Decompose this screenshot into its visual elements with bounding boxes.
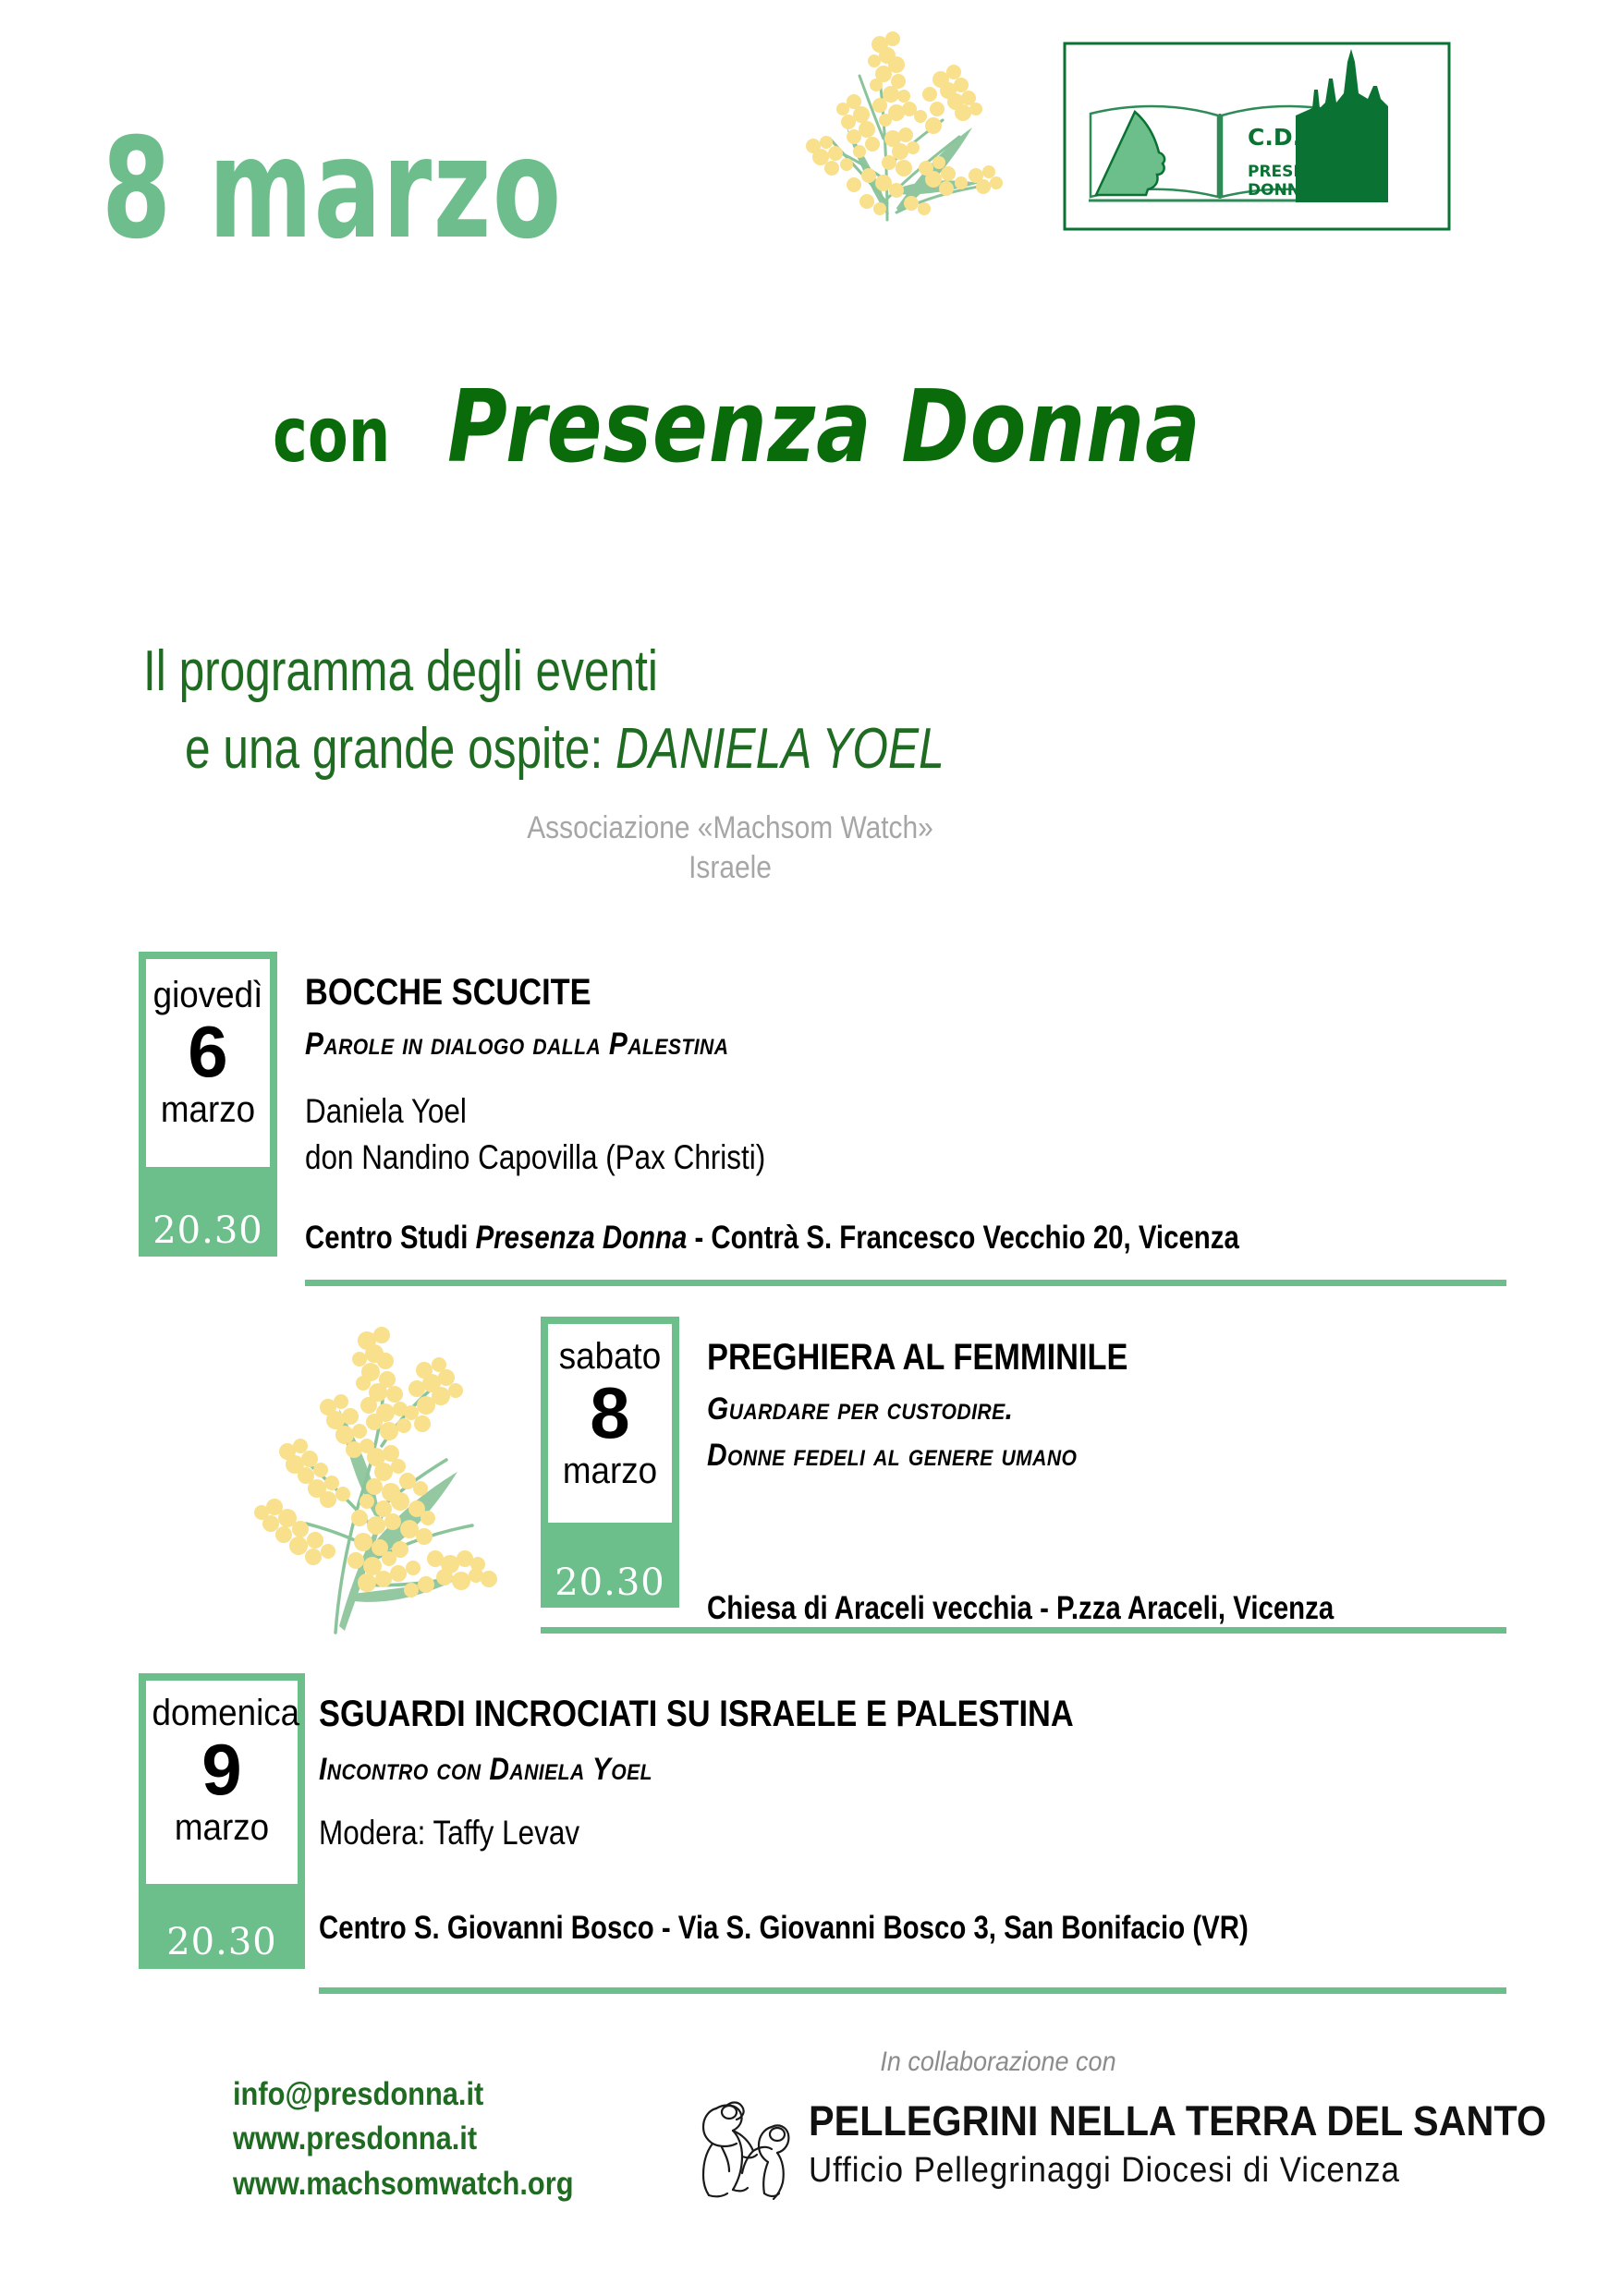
event-venue: Centro S. Giovanni Bosco - Via S. Giovan…: [319, 1910, 1321, 1947]
event-title: PREGHIERA AL FEMMINILE: [707, 1337, 1422, 1378]
event-divider: [305, 1280, 1506, 1286]
cds-presenza-donna-logo: C.D.S. PRESENZA DONNA: [1063, 42, 1451, 231]
partner-subtitle: Ufficio Pellegrinaggi Diocesi di Vicenza: [809, 2153, 1546, 2188]
con-word: con: [273, 392, 390, 480]
presenza-donna-wordmark: Presenza Donna: [447, 370, 1201, 485]
intro-line-1: Il programma degli eventi: [143, 638, 658, 705]
event-subtitle: Incontro con Daniela Yoel: [319, 1751, 1368, 1788]
event-weekday: domenica: [152, 1694, 292, 1732]
venue-pre: Chiesa di Araceli vecchia - P.zza Aracel…: [707, 1590, 1334, 1626]
event-item: giovedì 6 marzo 20.30 BOCCHE SCUCITE Par…: [0, 952, 1621, 1284]
venue-emphasis: Presenza Donna: [476, 1220, 688, 1256]
event-body: SGUARDI INCROCIATI SU ISRAELE E PALESTIN…: [319, 1673, 1511, 1947]
event-month: marzo: [553, 1452, 666, 1490]
guest-country: Israele: [88, 848, 1372, 888]
pilgrims-illustration-icon: [689, 2090, 795, 2201]
event-venue: Centro Studi Presenza Donna - Contrà S. …: [305, 1220, 1314, 1257]
event-month: marzo: [152, 1808, 292, 1847]
partner-logo: PELLEGRINI NELLA TERRA DEL SANTO Ufficio…: [689, 2085, 1474, 2201]
venue-post: - Contrà S. Francesco Vecchio 20, Vicenz…: [687, 1220, 1239, 1256]
venue-pre: Centro S. Giovanni Bosco - Via S. Giovan…: [319, 1910, 1249, 1946]
poster-header: 8 marzo: [0, 0, 1621, 370]
venue-pre: Centro Studi: [305, 1220, 476, 1256]
collaboration-label: In collaborazione con: [880, 2047, 1115, 2078]
event-weekday: sabato: [553, 1337, 666, 1376]
guest-name: DANIELA YOEL: [615, 717, 945, 781]
cds-acronym: C.D.S.: [1248, 124, 1327, 151]
guest-affiliation: Associazione «Machsom Watch» Israele: [88, 808, 1372, 887]
event-date-box: sabato 8 marzo 20.30: [541, 1317, 679, 1608]
event-title: SGUARDI INCROCIATI SU ISRAELE E PALESTIN…: [319, 1694, 1344, 1734]
event-day: 8: [548, 1376, 672, 1452]
event-speaker: Modera: Taffy Levav: [319, 1810, 1333, 1856]
event-day: 9: [146, 1732, 298, 1808]
organisation-title: conPresenza Donna: [273, 370, 1367, 485]
event-speaker: don Nandino Capovilla (Pax Christi): [305, 1135, 1326, 1181]
partner-name: PELLEGRINI NELLA TERRA DEL SANTO: [809, 2100, 1546, 2142]
event-subtitle-2: Donne fedeli al genere umano: [707, 1437, 1439, 1474]
event-body: BOCCHE SCUCITE Parole in dialogo dalla P…: [305, 952, 1506, 1257]
event-date-box: domenica 9 marzo 20.30: [139, 1673, 305, 1969]
poster-footer: info@presdonna.it www.presdonna.it www.m…: [0, 2028, 1621, 2296]
page-title: 8 marzo: [102, 120, 563, 259]
event-weekday: giovedì: [151, 976, 264, 1014]
event-month: marzo: [151, 1090, 264, 1129]
event-subtitle: Parole in dialogo dalla Palestina: [305, 1026, 1362, 1063]
event-venue: Chiesa di Araceli vecchia - P.zza Aracel…: [707, 1590, 1406, 1627]
mimosa-flower-icon: [758, 28, 1017, 222]
event-time: 20.30: [146, 1209, 270, 1252]
event-date-box: giovedì 6 marzo 20.30: [139, 952, 277, 1257]
guest-association: Associazione «Machsom Watch»: [88, 808, 1372, 848]
event-time: 20.30: [548, 1561, 672, 1604]
event-item: domenica 9 marzo 20.30 SGUARDI INCROCIAT…: [0, 1673, 1621, 1992]
event-time: 20.30: [146, 1921, 298, 1963]
cds-line2: DONNA: [1248, 181, 1313, 200]
contact-email[interactable]: info@presdonna.it: [233, 2072, 574, 2117]
event-day: 6: [146, 1014, 270, 1090]
event-title: BOCCHE SCUCITE: [305, 972, 1338, 1013]
intro-guest-prefix: e una grande ospite:: [185, 717, 615, 781]
event-speaker: Daniela Yoel: [305, 1088, 1326, 1135]
event-subtitle: Guardare per custodire.: [707, 1391, 1439, 1427]
contact-website-machsomwatch[interactable]: www.machsomwatch.org: [233, 2162, 574, 2206]
intro-line-2: e una grande ospite: DANIELA YOEL: [185, 715, 945, 783]
event-divider: [541, 1627, 1506, 1634]
mimosa-flower-icon: [236, 1317, 541, 1635]
event-divider: [319, 1987, 1506, 1994]
event-body: PREGHIERA AL FEMMINILE Guardare per cust…: [707, 1317, 1539, 1627]
contact-website[interactable]: www.presdonna.it: [233, 2117, 574, 2161]
cds-line1: PRESENZA: [1248, 163, 1342, 181]
